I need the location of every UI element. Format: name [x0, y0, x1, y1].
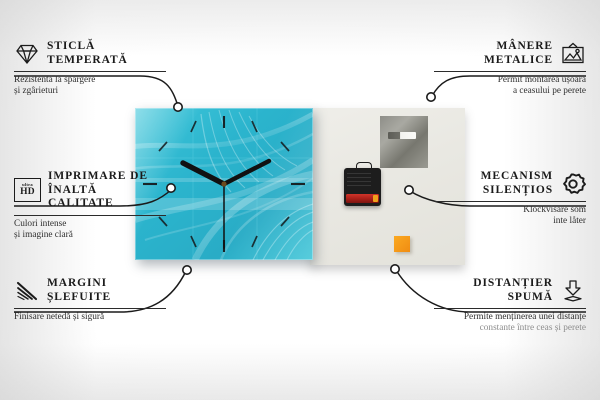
ultra-hd-icon-main-label: HD — [20, 188, 35, 198]
callout-description: Klockvisare som inte låter — [434, 205, 586, 228]
callout-rule — [434, 201, 586, 202]
callout-tempered-glass: STICLĂ TEMPERATĂ Rezistentă la spargere … — [14, 40, 166, 98]
callout-description: Permite menținerea unei distanțeconstant… — [434, 312, 586, 335]
callout-title: STICLĂ TEMPERATĂ — [47, 40, 128, 67]
callout-description: Culori intense și imagine clară — [14, 219, 166, 242]
callout-rule — [434, 71, 586, 72]
polished-edges-icon — [14, 279, 40, 303]
callout-title: MECANISM SILENȚIOS — [481, 170, 553, 197]
callout-title: DISTANȚIER SPUMĂ — [473, 277, 553, 304]
callout-hd-printing: ultra HD IMPRIMARE DE ÎNALTĂ CALITATE Cu… — [14, 170, 166, 241]
callout-description: Rezistentă la spargere și zgârieturi — [14, 75, 166, 98]
leader-dot-print — [167, 184, 175, 192]
callout-rule — [14, 71, 166, 72]
desc-line-2: constante între ceas și perete — [480, 323, 586, 333]
ultra-hd-icon: ultra HD — [14, 178, 41, 202]
callout-metal-handles: MÂNERE METALICE Permit montarea ușoară a… — [434, 40, 586, 98]
leader-dot-glass — [174, 103, 182, 111]
callout-rule — [14, 215, 166, 216]
leader-dot-spacer — [391, 265, 399, 273]
callout-rule — [434, 308, 586, 309]
callout-description: Permit montarea ușoară a ceasului pe per… — [434, 75, 586, 98]
diamond-icon — [14, 42, 40, 66]
callout-foam-spacer: DISTANȚIER SPUMĂ Permite menținerea unei… — [434, 277, 586, 335]
callout-title: MÂNERE METALICE — [484, 40, 553, 67]
infographic-canvas: STICLĂ TEMPERATĂ Rezistentă la spargere … — [0, 0, 600, 400]
callout-polished-edges: MARGINI ȘLEFUITE Finisare netedă și sigu… — [14, 277, 166, 323]
foam-spacer-icon — [560, 279, 586, 303]
callout-description: Finisare netedă și sigură — [14, 312, 166, 323]
callout-title: IMPRIMARE DE ÎNALTĂ CALITATE — [48, 170, 166, 211]
callout-rule — [14, 308, 166, 309]
leader-dot-edges — [183, 266, 191, 274]
callout-title: MARGINI ȘLEFUITE — [47, 277, 111, 304]
leader-dot-mechanism — [405, 186, 413, 194]
desc-line-1: Permite menținerea unei distanțe — [464, 312, 586, 322]
callout-silent-mechanism: MECANISM SILENȚIOS Klockvisare som inte … — [434, 170, 586, 228]
gear-icon — [560, 172, 586, 196]
wall-mount-icon — [560, 42, 586, 66]
